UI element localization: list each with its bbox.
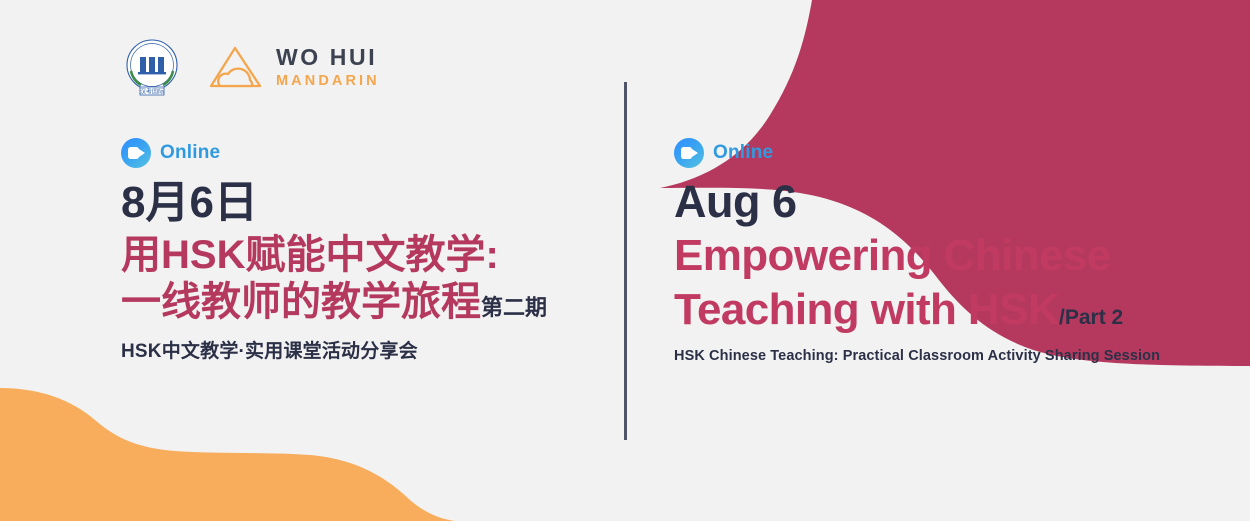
event-title-chinese-line1: 用HSK赋能中文教学: [121, 232, 601, 279]
wohui-logo-line1: WO HUI [276, 46, 380, 69]
chinese-testing-international-seal-icon: 汉考国际 [121, 38, 183, 96]
mountain-cloud-icon [207, 44, 265, 90]
event-title-english-suffix: /Part 2 [1059, 306, 1123, 329]
vertical-divider [624, 82, 627, 440]
event-title-chinese-line2-wrapper: 一线教师的教学旅程第二期 [121, 279, 601, 326]
logo-row: 汉考国际 WO HUI MANDARIN [121, 38, 380, 96]
event-title-english-line2: Teaching with HSK [674, 285, 1059, 334]
orange-wave-shape [0, 388, 455, 521]
online-label-chinese: Online [160, 142, 220, 164]
online-badge-chinese: Online [121, 138, 601, 168]
event-subtitle-chinese: HSK中文教学·实用课堂活动分享会 [121, 336, 601, 363]
event-title-english-line1: Empowering Chinese [674, 229, 1234, 283]
english-column: Online Aug 6 Empowering Chinese Teaching… [674, 138, 1234, 364]
online-badge-english: Online [674, 138, 1234, 168]
online-label-english: Online [713, 142, 773, 164]
chinese-column: Online 8月6日 用HSK赋能中文教学: 一线教师的教学旅程第二期 HSK… [121, 138, 601, 363]
event-title-chinese-line2: 一线教师的教学旅程 [121, 280, 481, 324]
event-date-chinese: 8月6日 [121, 180, 601, 226]
zoom-video-icon [121, 138, 151, 168]
wohui-logo-line2: MANDARIN [276, 74, 380, 89]
event-banner: 汉考国际 WO HUI MANDARIN Online 8月 [0, 0, 1250, 521]
event-subtitle-english: HSK Chinese Teaching: Practical Classroo… [674, 348, 1234, 364]
svg-text:汉考国际: 汉考国际 [140, 87, 164, 95]
event-title-english-line2-wrapper: Teaching with HSK/Part 2 [674, 283, 1234, 337]
event-title-chinese-suffix: 第二期 [481, 295, 547, 320]
event-date-english: Aug 6 [674, 178, 1234, 225]
wo-hui-mandarin-logo: WO HUI MANDARIN [207, 44, 380, 90]
zoom-video-icon [674, 138, 704, 168]
